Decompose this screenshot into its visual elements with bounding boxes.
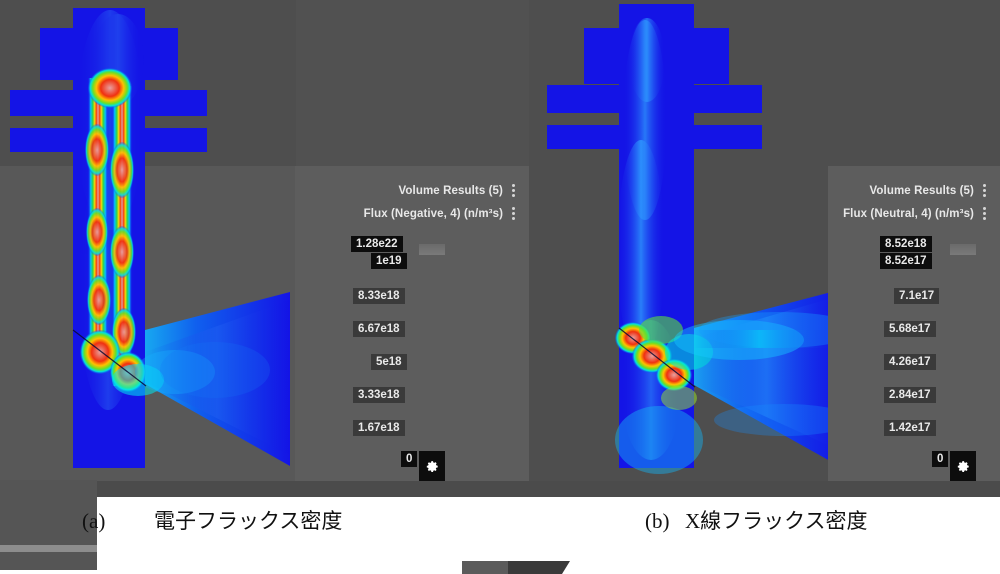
legend-title-a: Volume Results (5) xyxy=(399,185,503,197)
gear-icon xyxy=(956,459,971,474)
legend-tick-b-4: 2.84e17 xyxy=(884,387,936,403)
legend-tick-b-5: 1.42e17 xyxy=(884,420,936,436)
legend-subtitle-b: Flux (Neutral, 4) (n/m³s) xyxy=(843,208,974,220)
legend-title-menu-a[interactable] xyxy=(507,183,521,199)
caption-b: (b)X線フラックス密度 xyxy=(645,505,868,535)
legend-min-value-a: 0 xyxy=(401,451,417,467)
legend-max-value-b: 8.52e17 xyxy=(880,253,932,269)
legend-tick-b-2: 5.68e17 xyxy=(884,321,936,337)
legend-over-value-a: 1.28e22 xyxy=(351,236,403,252)
legend-subtitle-menu-a[interactable] xyxy=(507,206,521,222)
caption-b-label: (b) xyxy=(645,509,685,534)
legend-min-value-b: 0 xyxy=(932,451,948,467)
caption-a-label: (a) xyxy=(82,509,154,534)
legend-settings-button-a[interactable] xyxy=(419,451,445,481)
over-range-swatch-a xyxy=(419,244,445,255)
legend-tick-a-5: 1.67e18 xyxy=(353,420,405,436)
legend-subtitle-a: Flux (Negative, 4) (n/m³s) xyxy=(364,208,503,220)
legend-tick-b-3: 4.26e17 xyxy=(884,354,936,370)
legend-tick-a-2: 6.67e18 xyxy=(353,321,405,337)
legend-panel-b[interactable]: Volume Results (5) Flux (Neutral, 4) (n/… xyxy=(828,166,1000,481)
bottom-edge-artifact xyxy=(462,561,562,574)
rainbow-gradient-a xyxy=(419,255,445,451)
caption-b-text: X線フラックス密度 xyxy=(685,509,868,533)
left-gray-strip-highlight xyxy=(0,545,97,552)
legend-tick-a-1: 8.33e18 xyxy=(353,288,405,304)
rainbow-gradient-b xyxy=(950,255,976,451)
figure-root: Volume Results (5) Flux (Negative, 4) (n… xyxy=(0,0,1000,574)
legend-title-menu-b[interactable] xyxy=(978,183,992,199)
color-ramp-b[interactable] xyxy=(950,244,976,451)
gear-icon xyxy=(425,459,440,474)
legend-max-value-a: 1e19 xyxy=(371,253,407,269)
over-range-swatch-b xyxy=(950,244,976,255)
color-ramp-a[interactable] xyxy=(419,244,445,451)
legend-tick-a-3: 5e18 xyxy=(371,354,407,370)
legend-panel-a[interactable]: Volume Results (5) Flux (Negative, 4) (n… xyxy=(295,166,529,481)
caption-a-text: 電子フラックス密度 xyxy=(154,509,342,533)
legend-tick-a-4: 3.33e18 xyxy=(353,387,405,403)
legend-over-value-b: 8.52e18 xyxy=(880,236,932,252)
caption-a: (a)電子フラックス密度 xyxy=(82,505,342,535)
legend-tick-b-1: 7.1e17 xyxy=(894,288,939,304)
legend-title-b: Volume Results (5) xyxy=(870,185,974,197)
legend-subtitle-menu-b[interactable] xyxy=(978,206,992,222)
legend-settings-button-b[interactable] xyxy=(950,451,976,481)
